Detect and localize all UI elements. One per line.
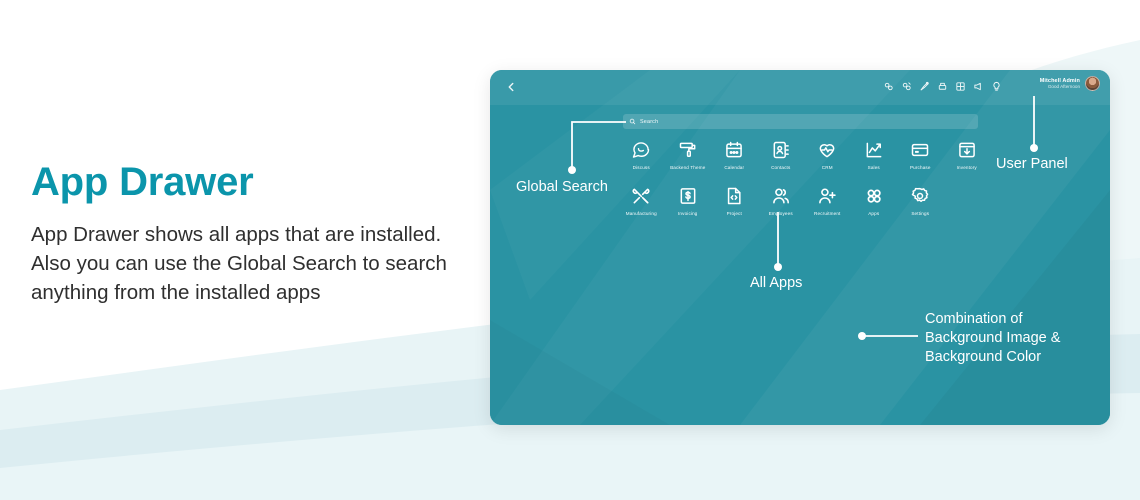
- app-label: Inventory: [957, 165, 977, 170]
- app-drawer-card: Mitchell Admin Good Afternoon Search Dis…: [490, 70, 1110, 425]
- chat-bubble-icon: [631, 140, 651, 160]
- app-label: Sales: [868, 165, 880, 170]
- annotation-background-line3: Background Color: [925, 348, 1060, 367]
- app-item-purchase[interactable]: Purchase: [897, 140, 944, 170]
- user-greeting: Good Afternoon: [1040, 84, 1080, 89]
- code-file-icon: [724, 186, 744, 206]
- app-item-contacts[interactable]: Contacts: [758, 140, 805, 170]
- user-text: Mitchell Admin Good Afternoon: [1040, 78, 1080, 90]
- page-root: App Drawer App Drawer shows all apps tha…: [0, 0, 1140, 500]
- app-item-inventory[interactable]: Inventory: [944, 140, 991, 170]
- person-plus-icon: [817, 186, 837, 206]
- app-label: Backend Theme: [670, 165, 705, 170]
- app-item-invoicing[interactable]: Invoicing: [665, 186, 712, 216]
- print-icon[interactable]: [937, 81, 948, 92]
- annotation-background-line1: Combination of: [925, 310, 1060, 329]
- activity-icon[interactable]: [901, 81, 912, 92]
- tools-cross-icon: [631, 186, 651, 206]
- app-label: Employees: [769, 211, 793, 216]
- four-dots-icon: [864, 186, 884, 206]
- gear-icon: [910, 186, 930, 206]
- paint-roller-icon: [678, 140, 698, 160]
- apps-grid: Discuss Backend Theme Calendar Contacts …: [618, 140, 990, 216]
- system-tray-icons[interactable]: [883, 81, 1002, 92]
- app-item-employees[interactable]: Employees: [758, 186, 805, 216]
- address-book-icon: [771, 140, 791, 160]
- annotation-user-panel: User Panel: [996, 155, 1068, 174]
- app-label: Recruitment: [814, 211, 840, 216]
- app-label: Contacts: [771, 165, 790, 170]
- avatar[interactable]: [1085, 76, 1100, 91]
- line-chart-icon: [864, 140, 884, 160]
- calendar-icon: [724, 140, 744, 160]
- annotation-background: Combination of Background Image & Backgr…: [925, 310, 1060, 367]
- app-label: Settings: [911, 211, 929, 216]
- app-label: CRM: [822, 165, 833, 170]
- app-item-calendar[interactable]: Calendar: [711, 140, 758, 170]
- bug-icon[interactable]: [883, 81, 894, 92]
- app-label: Invoicing: [678, 211, 697, 216]
- app-item-settings[interactable]: Settings: [897, 186, 944, 216]
- marketing-copy: App Drawer App Drawer shows all apps tha…: [31, 160, 451, 307]
- app-label: Discuss: [633, 165, 650, 170]
- app-label: Project: [727, 211, 742, 216]
- app-item-recruitment[interactable]: Recruitment: [804, 186, 851, 216]
- box-download-icon: [957, 140, 977, 160]
- app-item-backend-theme[interactable]: Backend Theme: [665, 140, 712, 170]
- page-description: App Drawer shows all apps that are insta…: [31, 220, 451, 307]
- annotation-background-line2: Background Image &: [925, 329, 1060, 348]
- app-item-discuss[interactable]: Discuss: [618, 140, 665, 170]
- app-label: Apps: [868, 211, 879, 216]
- bulb-icon[interactable]: [991, 81, 1002, 92]
- people-icon: [771, 186, 791, 206]
- app-item-crm[interactable]: CRM: [804, 140, 851, 170]
- app-label: Calendar: [724, 165, 744, 170]
- app-item-apps[interactable]: Apps: [851, 186, 898, 216]
- user-panel[interactable]: Mitchell Admin Good Afternoon: [1040, 76, 1100, 91]
- app-item-manufacturing[interactable]: Manufacturing: [618, 186, 665, 216]
- app-item-project[interactable]: Project: [711, 186, 758, 216]
- chevron-left-icon[interactable]: [504, 80, 518, 94]
- app-label: Manufacturing: [626, 211, 657, 216]
- wrench-icon[interactable]: [919, 81, 930, 92]
- dollar-box-icon: [678, 186, 698, 206]
- annotation-global-search: Global Search: [516, 178, 608, 197]
- heart-pulse-icon: [817, 140, 837, 160]
- annotation-all-apps: All Apps: [750, 274, 802, 293]
- megaphone-icon[interactable]: [973, 81, 984, 92]
- search-placeholder: Search: [640, 119, 658, 125]
- card-top-bar: [490, 70, 1110, 105]
- app-label: Purchase: [910, 165, 931, 170]
- search-input[interactable]: Search: [623, 114, 978, 129]
- search-icon: [629, 118, 636, 125]
- grid-icon[interactable]: [955, 81, 966, 92]
- page-title: App Drawer: [31, 160, 451, 204]
- credit-card-icon: [910, 140, 930, 160]
- app-item-sales[interactable]: Sales: [851, 140, 898, 170]
